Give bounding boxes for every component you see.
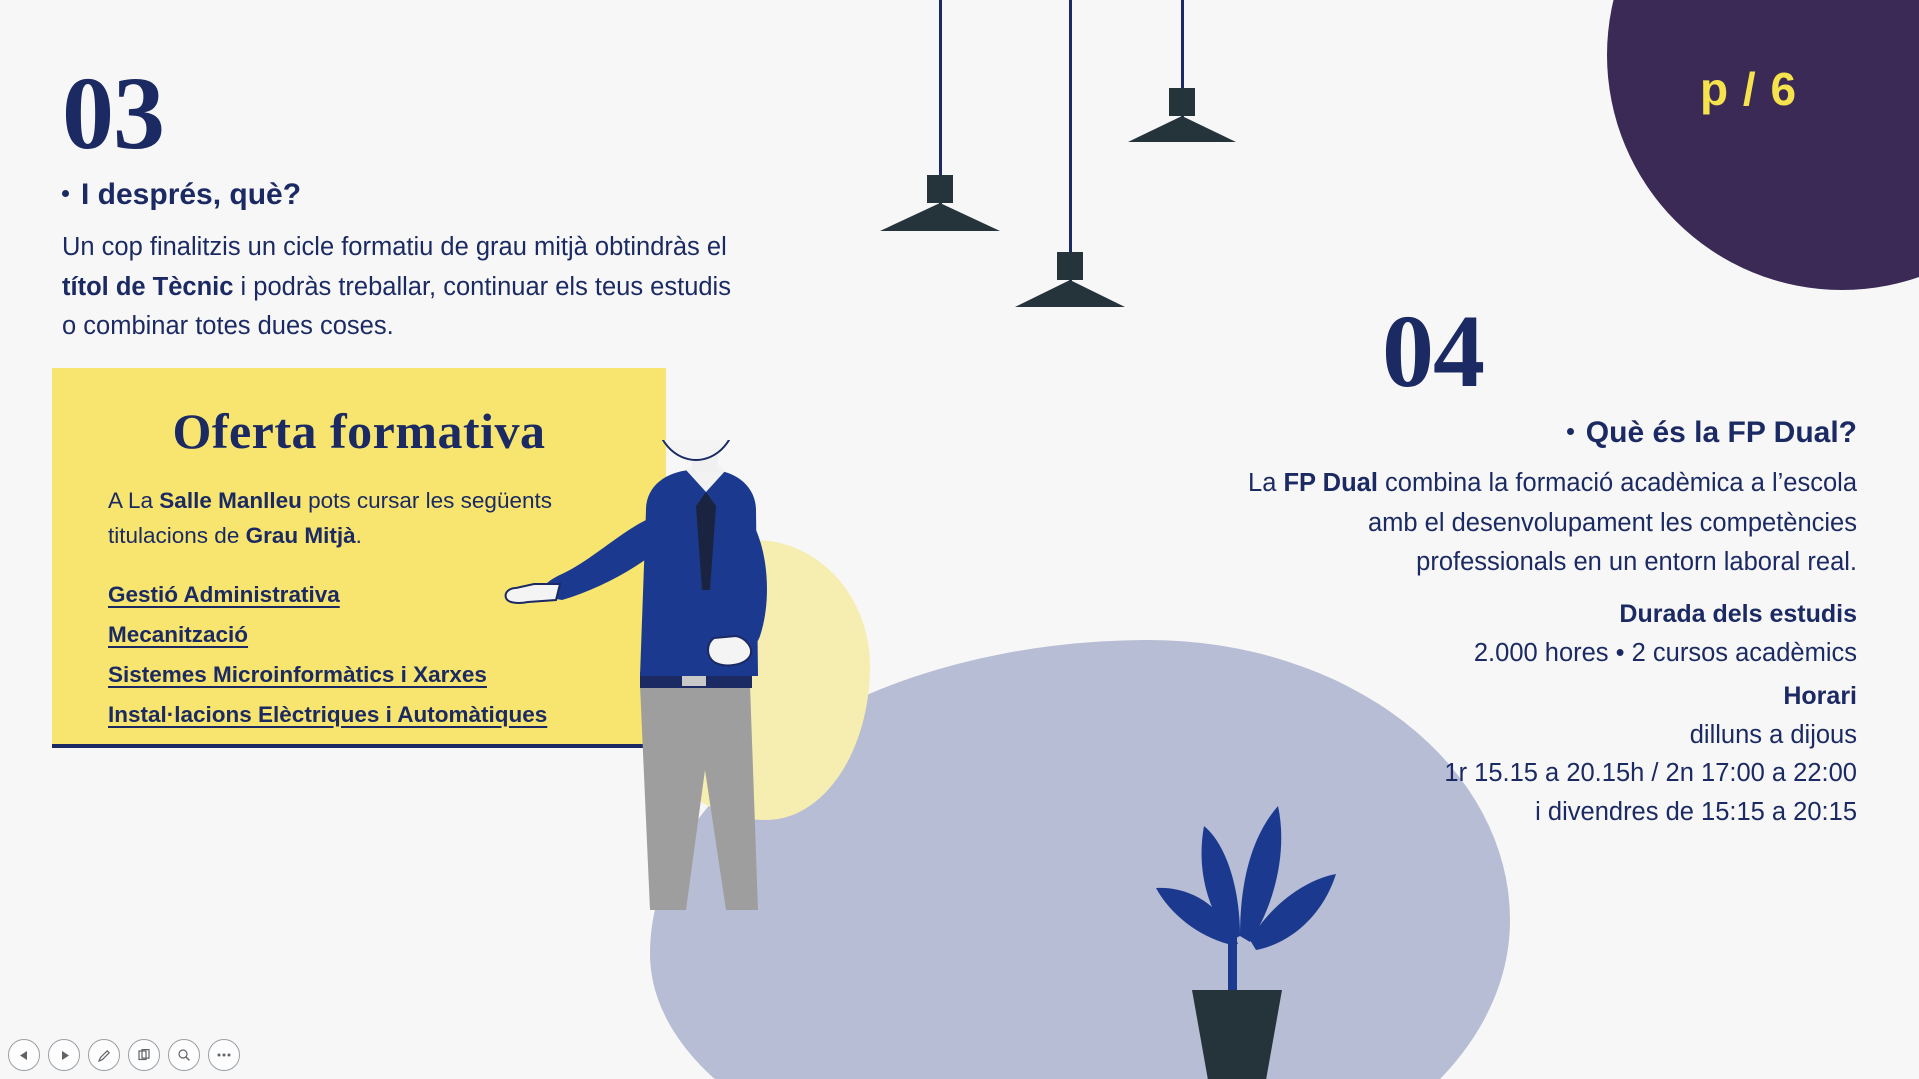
pendant-lamp-right [1128, 0, 1236, 170]
duration-value: 2.000 hores • 2 cursos acadèmics [1474, 634, 1857, 673]
illustration-person-pointing [500, 440, 1120, 1079]
potted-plant-illustration [1100, 740, 1370, 1079]
next-slide-button[interactable] [48, 1039, 80, 1071]
section-03-body-part1: Un cop finalitzis un cicle formatiu de g… [62, 233, 727, 261]
section-04-body-part1: La [1248, 469, 1283, 497]
presentation-slide: p / 6 03 I després, què? Un cop finalitz… [0, 0, 1919, 1079]
duration-label: Durada dels estudis [1474, 596, 1857, 634]
section-03-heading: I després, què? [62, 178, 301, 212]
magnifier-icon [177, 1048, 191, 1062]
zoom-button[interactable] [168, 1039, 200, 1071]
pen-icon [97, 1048, 112, 1063]
section-03-number: 03 [62, 62, 164, 166]
section-04-body-bold: FP Dual [1283, 469, 1377, 497]
slide-toolbar [8, 1039, 240, 1071]
duration-info-block: Durada dels estudis 2.000 hores • 2 curs… [1474, 596, 1857, 672]
right-hand-shape [708, 636, 751, 665]
trousers-shape [640, 685, 758, 910]
schedule-info-block: Horari dilluns a dijous 1r 15.15 a 20.15… [1444, 678, 1857, 832]
bullet-dot-icon [62, 190, 69, 197]
pendant-lamp-center [1015, 0, 1125, 340]
plant-stem [1228, 930, 1237, 996]
pendant-lamp-left [880, 0, 1000, 260]
card-description-part3: . [356, 523, 362, 548]
purple-circle-shape [1607, 0, 1919, 290]
previous-slide-button[interactable] [8, 1039, 40, 1071]
page-indicator: p / 6 [1700, 62, 1797, 116]
copy-icon [137, 1048, 151, 1062]
card-description-part1: A La [108, 488, 159, 513]
section-03-body-bold: títol de Tècnic [62, 273, 233, 301]
schedule-line-3: i divendres de 15:15 a 20:15 [1444, 793, 1857, 832]
course-link-sistemes-microinformatics-i-xarxes[interactable]: Sistemes Microinformàtics i Xarxes [108, 662, 487, 688]
schedule-line-2: 1r 15.15 a 20.15h / 2n 17:00 a 22:00 [1444, 754, 1857, 793]
section-04-heading-text: Què és la FP Dual? [1586, 416, 1857, 449]
section-03-heading-text: I després, què? [81, 178, 301, 211]
bullet-dot-icon [1567, 428, 1574, 435]
section-04-heading: Què és la FP Dual? [1567, 416, 1857, 450]
pointing-hand-shape [506, 584, 560, 603]
copy-slide-button[interactable] [128, 1039, 160, 1071]
section-03-body: Un cop finalitzis un cicle formatiu de g… [62, 228, 752, 347]
pen-tool-button[interactable] [88, 1039, 120, 1071]
plant-pot [1192, 990, 1282, 1079]
head-shape [656, 440, 736, 460]
play-next-icon [58, 1049, 71, 1062]
play-previous-icon [18, 1049, 31, 1062]
more-options-button[interactable] [208, 1039, 240, 1071]
course-link-mecanitzacio[interactable]: Mecanització [108, 622, 248, 648]
section-04-number: 04 [1382, 300, 1484, 404]
section-04-body-part2: combina la formació acadèmica a l’escola… [1368, 469, 1857, 576]
schedule-line-1: dilluns a dijous [1444, 716, 1857, 755]
course-link-installacions-electriques-i-automatiques[interactable]: Instal·lacions Elèctriques i Automàtique… [108, 702, 547, 728]
card-description-bold2: Grau Mitjà [246, 523, 356, 548]
card-description-bold1: Salle Manlleu [159, 488, 302, 513]
ellipsis-icon [216, 1052, 232, 1058]
course-link-gestio-administrativa[interactable]: Gestió Administrativa [108, 582, 340, 608]
schedule-label: Horari [1444, 678, 1857, 716]
section-04-body: La FP Dual combina la formació acadèmica… [1237, 464, 1857, 583]
